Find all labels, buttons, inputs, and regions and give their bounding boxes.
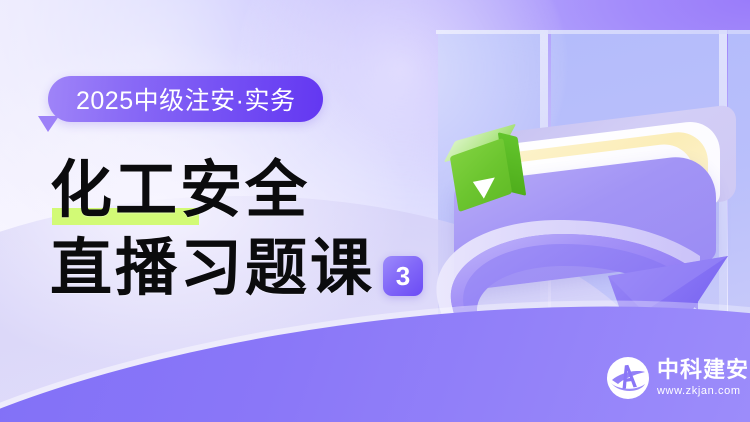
headline-line-1: 化工安全 <box>50 158 310 224</box>
play-triangle-icon <box>473 178 495 201</box>
brand-url: www.zkjan.com <box>657 386 749 397</box>
course-tag-tail <box>38 116 59 132</box>
headline-row-2: 直播习题课 3 <box>50 230 470 302</box>
headline-block: 化工安全 直播习题课 3 <box>50 152 470 302</box>
course-promo-banner: 2025中级注安·实务 化工安全 直播习题课 3 中科建安 www.zkjan.… <box>0 0 750 422</box>
brand-text-block: 中科建安 www.zkjan.com <box>657 360 749 397</box>
course-tag[interactable]: 2025中级注安·实务 <box>48 76 323 122</box>
brand-logo[interactable]: 中科建安 www.zkjan.com <box>606 356 749 400</box>
headline-row-1: 化工安全 <box>50 152 470 224</box>
course-tag-label: 2025中级注安·实务 <box>48 76 323 122</box>
headline-line-2: 直播习题课 <box>50 236 375 302</box>
zkjan-circle-logo-icon <box>606 356 650 400</box>
brand-name: 中科建安 <box>657 360 749 382</box>
episode-number-badge: 3 <box>383 256 423 296</box>
